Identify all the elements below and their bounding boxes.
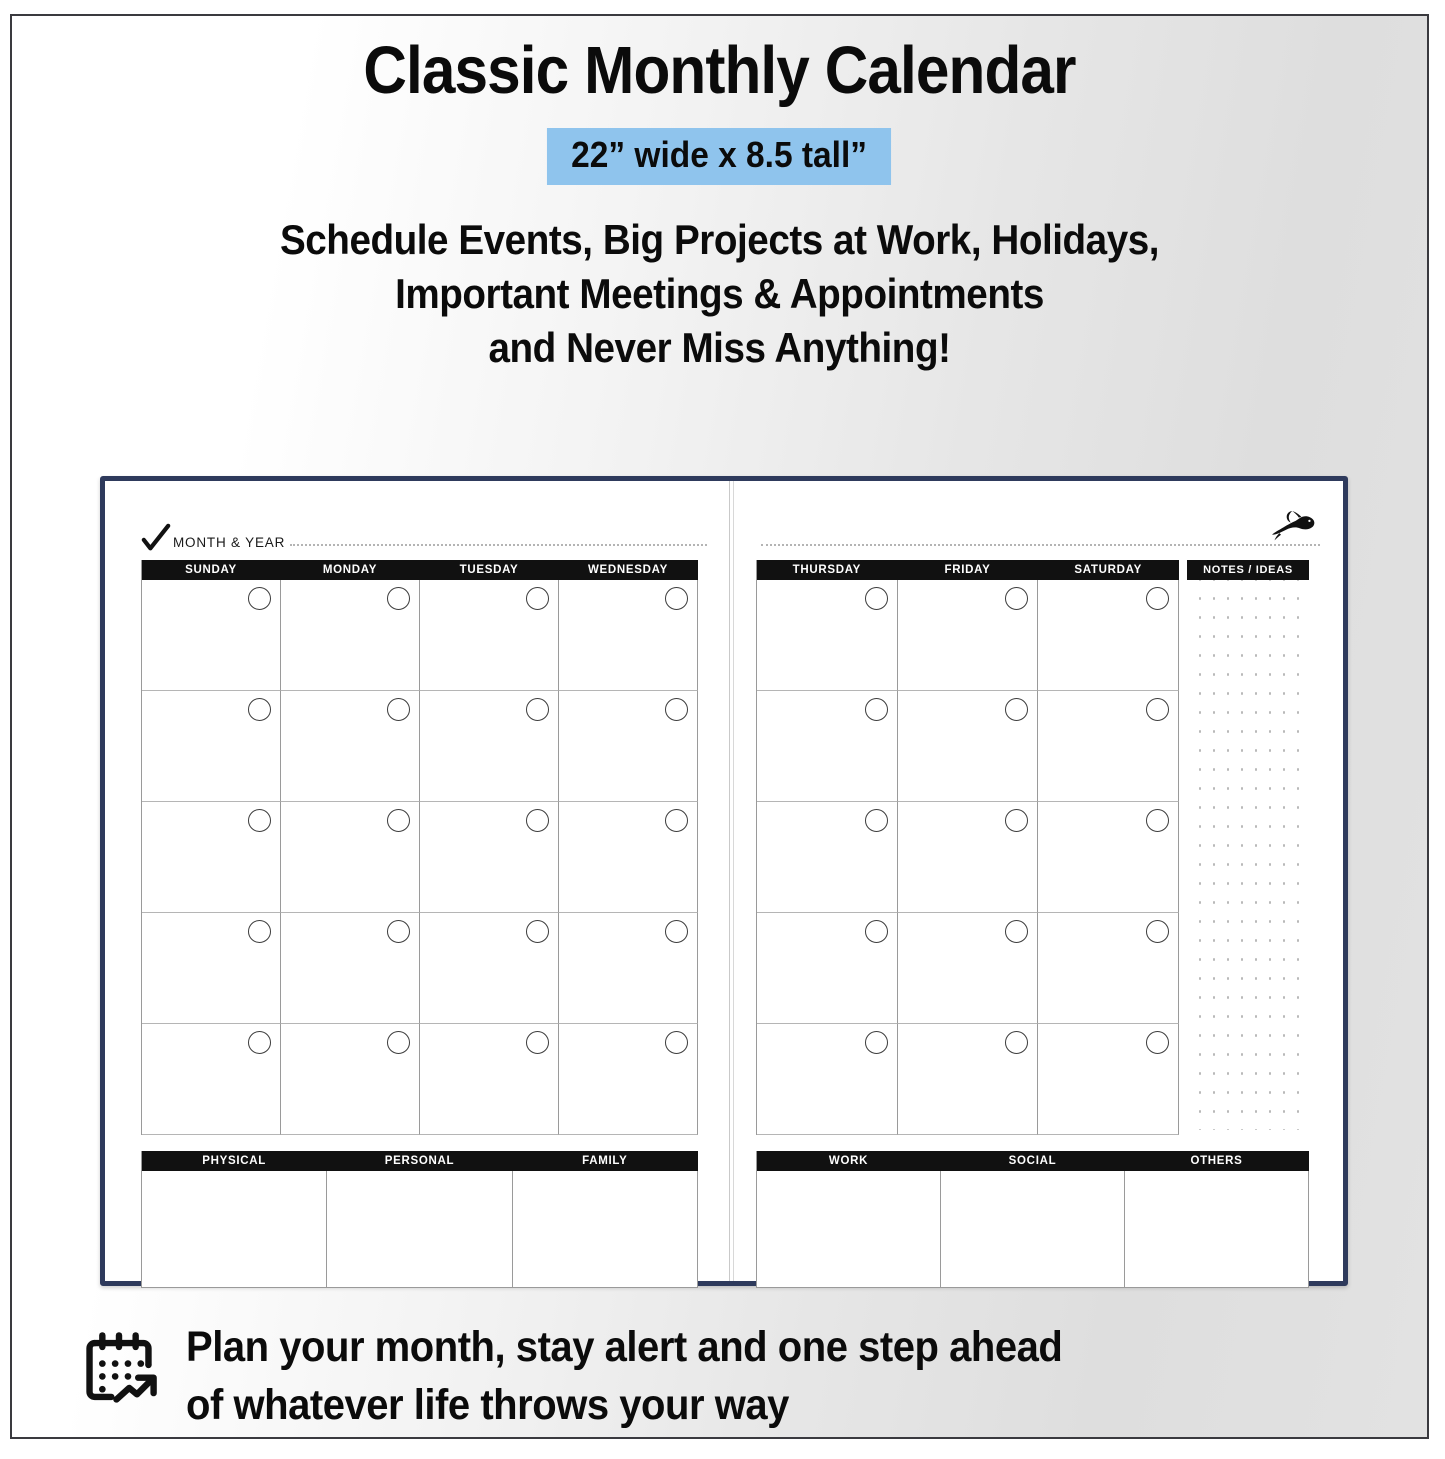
footer-line-2: of whatever life throws your way xyxy=(186,1376,1062,1434)
day-cell[interactable] xyxy=(420,1024,559,1135)
category-header-social: SOCIAL xyxy=(941,1151,1125,1171)
day-cell[interactable] xyxy=(281,580,420,691)
category-cell-others[interactable] xyxy=(1125,1171,1309,1288)
dow-header-sunday: SUNDAY xyxy=(142,560,281,580)
left-category-wrapper: PHYSICAL PERSONAL FAMILY xyxy=(141,1151,707,1288)
calendar-sheet: MONTH & YEAR SUNDAY MONDAY TUESDAY WEDNE… xyxy=(100,476,1348,1286)
category-header-family: FAMILY xyxy=(513,1151,698,1171)
day-cell[interactable] xyxy=(142,913,281,1024)
calendar-right-page: THURSDAY FRIDAY SATURDAY xyxy=(734,481,1348,1281)
day-cell[interactable] xyxy=(420,802,559,913)
day-cell[interactable] xyxy=(1038,1024,1179,1135)
day-number-circle[interactable] xyxy=(665,698,688,721)
subtitle-block: Schedule Events, Big Projects at Work, H… xyxy=(69,213,1371,374)
day-number-circle[interactable] xyxy=(526,587,549,610)
page-fold-line xyxy=(729,481,730,1281)
month-year-writeline[interactable] xyxy=(290,543,707,546)
day-number-circle[interactable] xyxy=(865,587,888,610)
dow-header-thursday: THURSDAY xyxy=(757,560,898,580)
category-cell-physical[interactable] xyxy=(142,1171,327,1288)
notes-ideas-column: NOTES / IDEAS xyxy=(1187,560,1309,1135)
category-header-physical: PHYSICAL xyxy=(142,1151,327,1171)
dow-header-wednesday: WEDNESDAY xyxy=(559,560,698,580)
day-number-circle[interactable] xyxy=(248,809,271,832)
day-number-circle[interactable] xyxy=(526,1031,549,1054)
day-cell[interactable] xyxy=(281,802,420,913)
day-cell[interactable] xyxy=(898,1024,1039,1135)
day-cell[interactable] xyxy=(281,691,420,802)
day-cell[interactable] xyxy=(281,913,420,1024)
left-calendar-grid: SUNDAY MONDAY TUESDAY WEDNESDAY xyxy=(141,560,698,1135)
day-cell[interactable] xyxy=(142,580,281,691)
day-number-circle[interactable] xyxy=(1005,1031,1028,1054)
day-number-circle[interactable] xyxy=(387,698,410,721)
day-number-circle[interactable] xyxy=(1005,587,1028,610)
day-cell[interactable] xyxy=(420,580,559,691)
day-cell[interactable] xyxy=(757,580,898,691)
header-section: Classic Monthly Calendar 22” wide x 8.5 … xyxy=(12,16,1427,375)
day-number-circle[interactable] xyxy=(1146,1031,1169,1054)
day-cell[interactable] xyxy=(1038,913,1179,1024)
day-cell[interactable] xyxy=(559,802,698,913)
day-number-circle[interactable] xyxy=(1146,920,1169,943)
page-title: Classic Monthly Calendar xyxy=(83,36,1357,106)
day-number-circle[interactable] xyxy=(1005,809,1028,832)
day-number-circle[interactable] xyxy=(865,920,888,943)
day-cell[interactable] xyxy=(757,691,898,802)
day-number-circle[interactable] xyxy=(526,809,549,832)
size-badge-wrapper: 22” wide x 8.5 tall” xyxy=(12,128,1427,185)
month-year-row: MONTH & YEAR xyxy=(141,503,707,551)
day-cell[interactable] xyxy=(559,580,698,691)
day-cell[interactable] xyxy=(420,691,559,802)
month-year-label: MONTH & YEAR xyxy=(173,535,285,550)
notes-ideas-header: NOTES / IDEAS xyxy=(1187,560,1309,580)
subtitle-line-3: and Never Miss Anything! xyxy=(69,321,1371,375)
day-number-circle[interactable] xyxy=(248,698,271,721)
dow-header-friday: FRIDAY xyxy=(898,560,1039,580)
day-number-circle[interactable] xyxy=(1146,698,1169,721)
day-cell[interactable] xyxy=(1038,691,1179,802)
day-number-circle[interactable] xyxy=(1005,920,1028,943)
day-number-circle[interactable] xyxy=(665,1031,688,1054)
day-number-circle[interactable] xyxy=(865,1031,888,1054)
left-category-grid: PHYSICAL PERSONAL FAMILY xyxy=(141,1151,698,1288)
day-cell[interactable] xyxy=(559,691,698,802)
day-cell[interactable] xyxy=(142,691,281,802)
right-category-grid: WORK SOCIAL OTHERS xyxy=(756,1151,1309,1288)
day-cell[interactable] xyxy=(757,913,898,1024)
footer-section: Plan your month, stay alert and one step… xyxy=(78,1318,1378,1434)
notes-ideas-dotgrid[interactable] xyxy=(1187,580,1309,1130)
day-cell[interactable] xyxy=(420,913,559,1024)
subtitle-line-2: Important Meetings & Appointments xyxy=(69,267,1371,321)
leaping-deer-logo xyxy=(1268,509,1320,549)
left-grid-wrapper: SUNDAY MONDAY TUESDAY WEDNESDAY xyxy=(141,560,707,1135)
right-grid-wrapper: THURSDAY FRIDAY SATURDAY xyxy=(756,560,1320,1135)
day-cell[interactable] xyxy=(559,913,698,1024)
product-infographic-page: Classic Monthly Calendar 22” wide x 8.5 … xyxy=(10,14,1429,1439)
footer-text-block: Plan your month, stay alert and one step… xyxy=(186,1318,1062,1434)
day-cell[interactable] xyxy=(898,802,1039,913)
day-number-circle[interactable] xyxy=(526,698,549,721)
dow-header-saturday: SATURDAY xyxy=(1038,560,1179,580)
right-category-wrapper: WORK SOCIAL OTHERS xyxy=(756,1151,1320,1288)
day-number-circle[interactable] xyxy=(526,920,549,943)
right-page-top-row xyxy=(756,503,1320,551)
day-number-circle[interactable] xyxy=(387,809,410,832)
day-number-circle[interactable] xyxy=(1146,587,1169,610)
day-number-circle[interactable] xyxy=(865,698,888,721)
day-cell[interactable] xyxy=(281,1024,420,1135)
day-number-circle[interactable] xyxy=(665,809,688,832)
day-cell[interactable] xyxy=(1038,802,1179,913)
category-header-others: OTHERS xyxy=(1125,1151,1309,1171)
day-number-circle[interactable] xyxy=(248,1031,271,1054)
day-cell[interactable] xyxy=(142,1024,281,1135)
category-header-personal: PERSONAL xyxy=(327,1151,512,1171)
day-cell[interactable] xyxy=(1038,580,1179,691)
day-number-circle[interactable] xyxy=(387,1031,410,1054)
day-cell[interactable] xyxy=(757,802,898,913)
dow-header-monday: MONDAY xyxy=(281,560,420,580)
day-number-circle[interactable] xyxy=(387,587,410,610)
day-cell[interactable] xyxy=(898,691,1039,802)
day-number-circle[interactable] xyxy=(665,920,688,943)
dow-header-tuesday: TUESDAY xyxy=(420,560,559,580)
category-header-work: WORK xyxy=(757,1151,941,1171)
right-calendar-grid: THURSDAY FRIDAY SATURDAY xyxy=(756,560,1179,1135)
day-number-circle[interactable] xyxy=(1005,698,1028,721)
day-cell[interactable] xyxy=(898,913,1039,1024)
day-number-circle[interactable] xyxy=(248,587,271,610)
size-badge: 22” wide x 8.5 tall” xyxy=(547,128,891,185)
subtitle-line-1: Schedule Events, Big Projects at Work, H… xyxy=(69,213,1371,267)
calendar-trend-icon xyxy=(78,1324,160,1416)
category-cell-family[interactable] xyxy=(513,1171,698,1288)
day-number-circle[interactable] xyxy=(865,809,888,832)
day-cell[interactable] xyxy=(898,580,1039,691)
category-cell-social[interactable] xyxy=(941,1171,1125,1288)
category-cell-personal[interactable] xyxy=(327,1171,512,1288)
day-cell[interactable] xyxy=(757,1024,898,1135)
day-cell[interactable] xyxy=(142,802,281,913)
category-cell-work[interactable] xyxy=(757,1171,941,1288)
checkmark-icon xyxy=(141,523,171,553)
footer-line-1: Plan your month, stay alert and one step… xyxy=(186,1318,1062,1376)
day-number-circle[interactable] xyxy=(665,587,688,610)
day-number-circle[interactable] xyxy=(387,920,410,943)
day-number-circle[interactable] xyxy=(1146,809,1169,832)
day-cell[interactable] xyxy=(559,1024,698,1135)
right-page-writeline[interactable] xyxy=(761,543,1320,546)
calendar-left-page: MONTH & YEAR SUNDAY MONDAY TUESDAY WEDNE… xyxy=(105,481,729,1281)
day-number-circle[interactable] xyxy=(248,920,271,943)
